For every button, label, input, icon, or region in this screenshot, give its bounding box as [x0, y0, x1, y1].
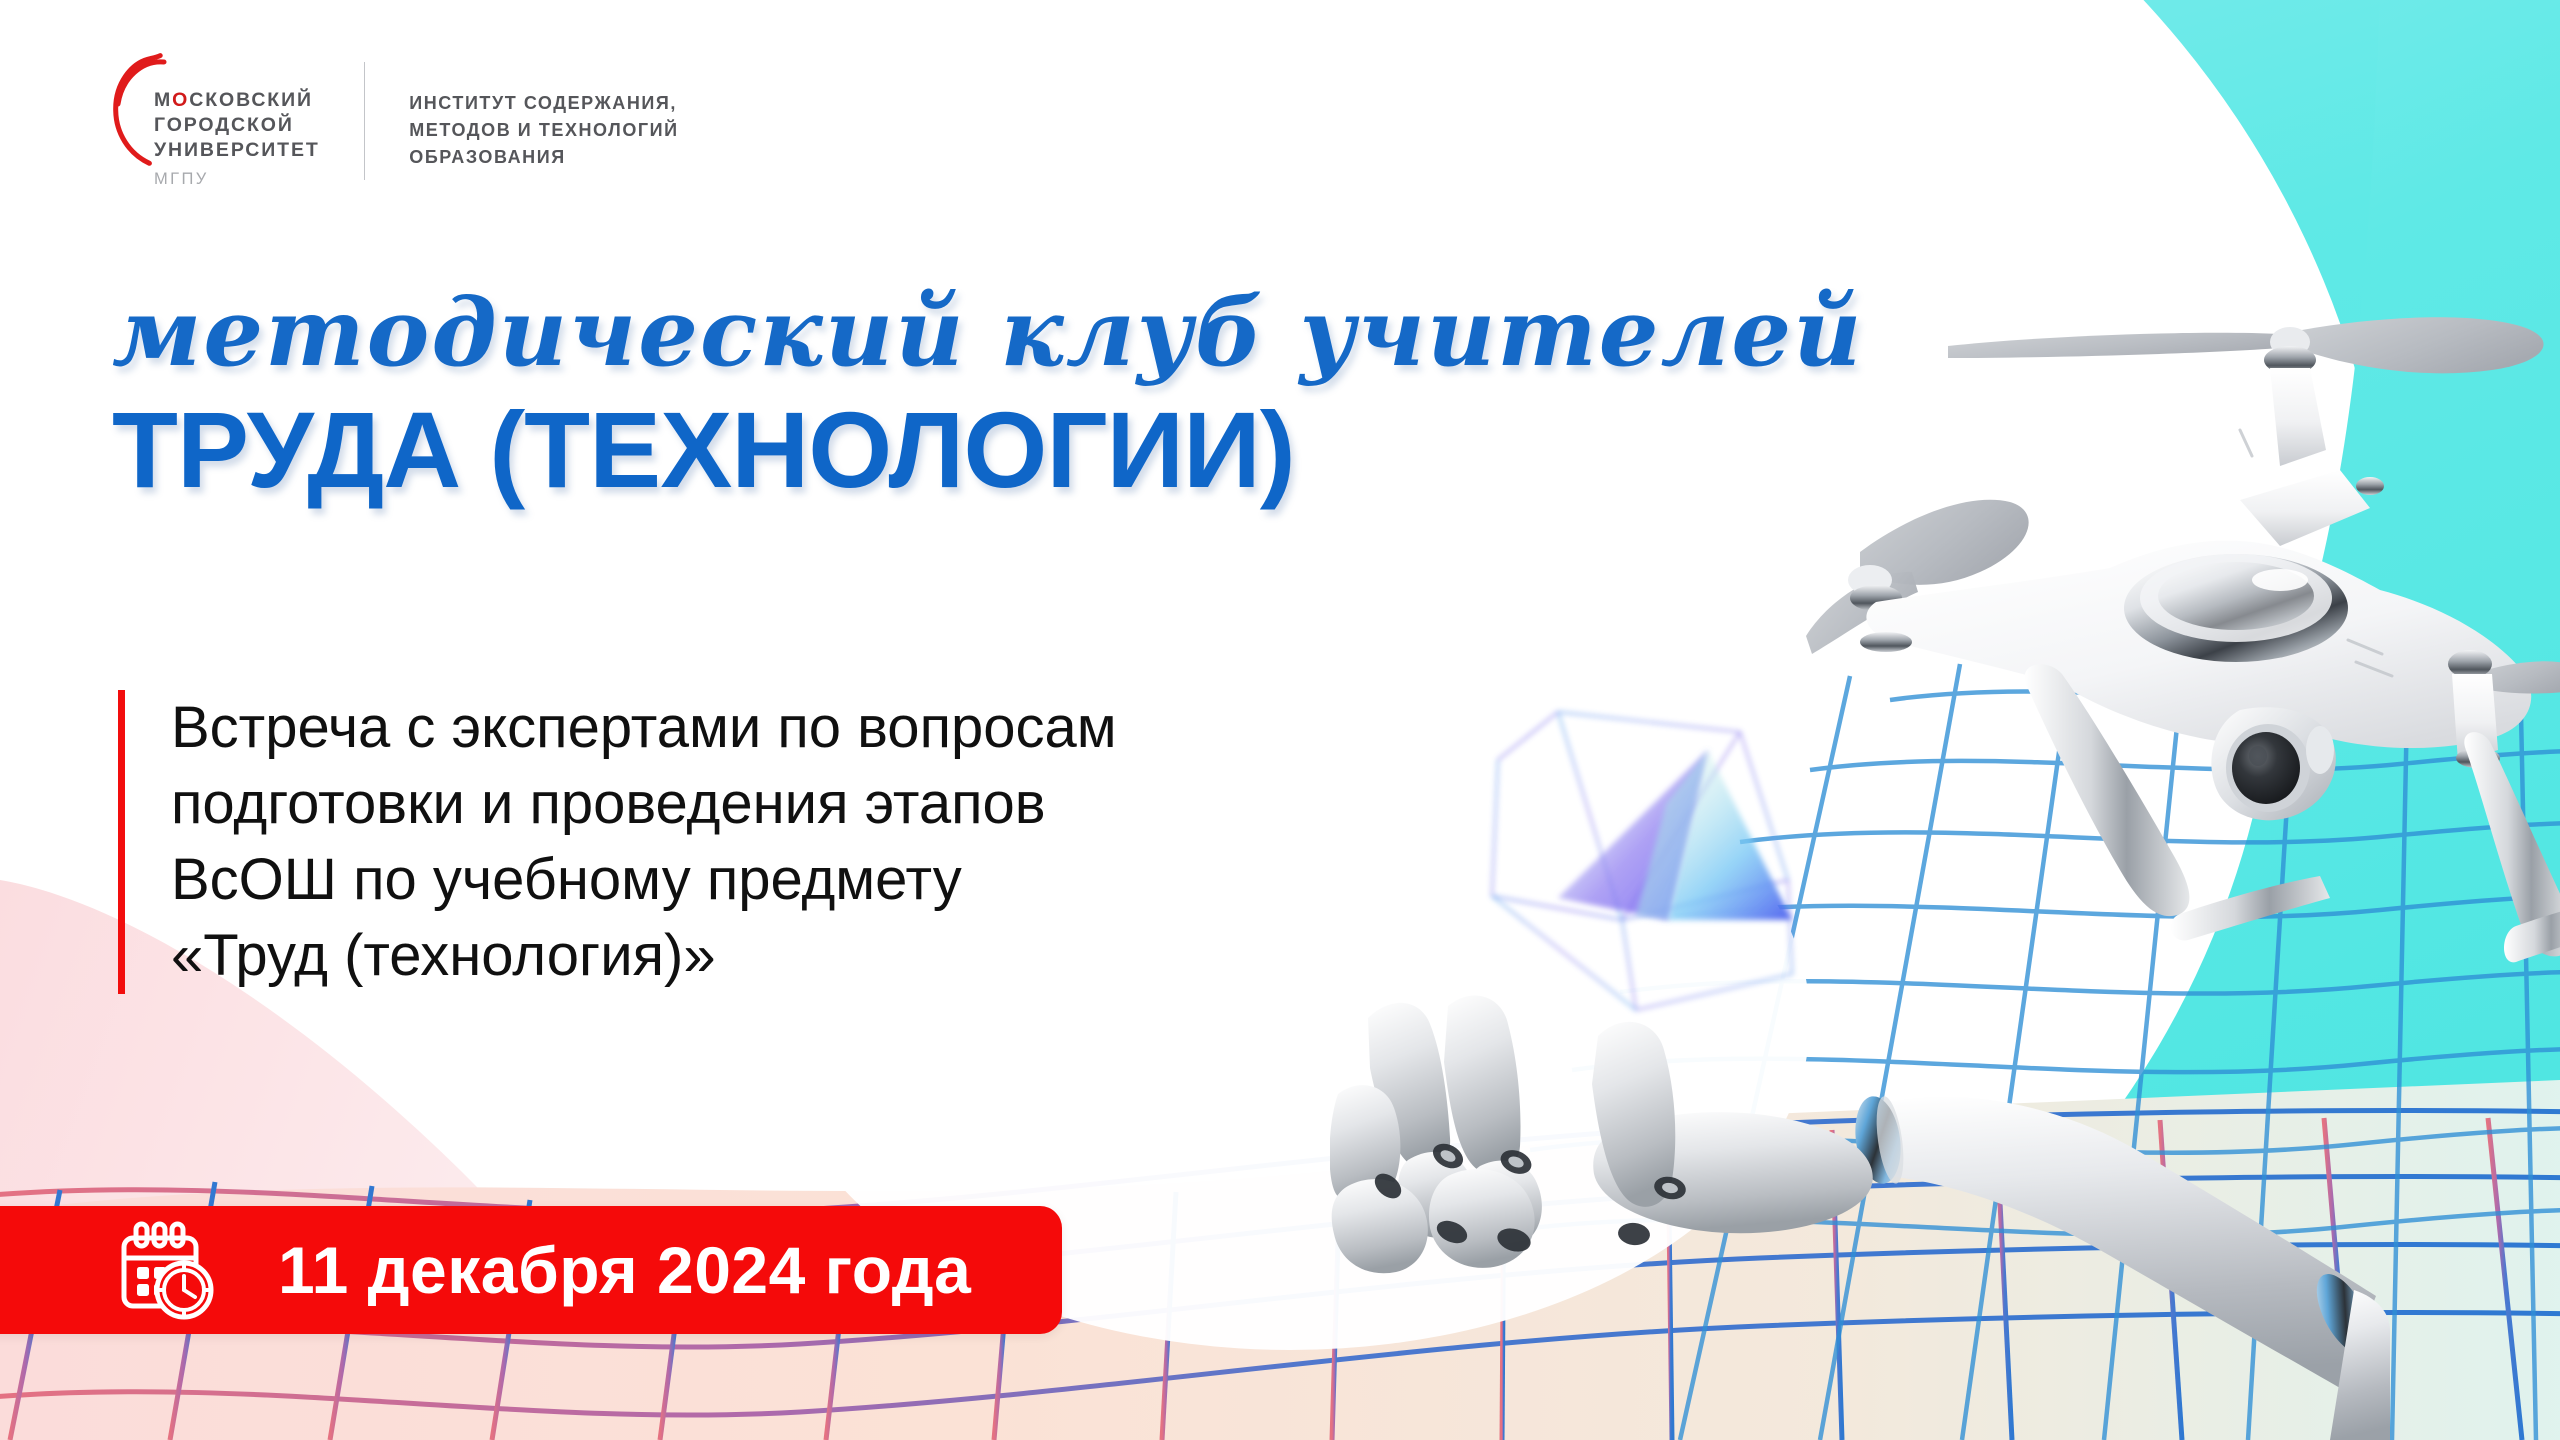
logo-line2: ГОРОДСКОЙ	[154, 113, 320, 138]
poster-canvas: МОСКОВСКИЙ ГОРОДСКОЙ УНИВЕРСИТЕТ МГПУ ИН…	[0, 0, 2560, 1440]
page-title: ТРУДА (ТЕХНОЛОГИИ)	[112, 396, 1864, 504]
description-line-3: ВсОШ по учебному предмету	[171, 842, 1117, 918]
calendar-clock-icon	[112, 1218, 216, 1322]
logo-line1-tail: СКОВСКИЙ	[189, 89, 313, 111]
description-line-4: «Труд (технология)»	[171, 918, 1117, 994]
robotic-hand-icon	[1330, 990, 2390, 1440]
logo-institute-line3: ОБРАЗОВАНИЯ	[409, 144, 678, 171]
mgpu-logo: МОСКОВСКИЙ ГОРОДСКОЙ УНИВЕРСИТЕТ МГПУ ИН…	[108, 88, 679, 189]
robot-fingers	[1330, 996, 1688, 1274]
headline-block: методический клуб учителей ТРУДА (ТЕХНОЛ…	[112, 286, 1864, 504]
description-accent-rule	[118, 690, 125, 994]
logo-institute-line1: ИНСТИТУТ СОДЕРЖАНИЯ,	[409, 90, 678, 117]
description-text: Встреча с экспертами по вопросам подгото…	[171, 690, 1117, 994]
logo-abbreviation: МГПУ	[154, 170, 320, 189]
description-block: Встреча с экспертами по вопросам подгото…	[118, 690, 1117, 994]
description-line-1: Встреча с экспертами по вопросам	[171, 690, 1117, 766]
logo-institute-block: ИНСТИТУТ СОДЕРЖАНИЯ, МЕТОДОВ И ТЕХНОЛОГИ…	[409, 88, 678, 171]
logo-university-block: МОСКОВСКИЙ ГОРОДСКОЙ УНИВЕРСИТЕТ МГПУ	[108, 88, 320, 189]
logo-divider	[364, 62, 366, 180]
logo-line1-accent: О	[172, 89, 189, 111]
date-banner: 11 декабря 2024 года	[0, 1206, 1062, 1334]
drone-camera	[2211, 707, 2335, 820]
description-line-2: подготовки и проведения этапов	[171, 766, 1117, 842]
logo-line3: УНИВЕРСИТЕТ	[154, 138, 320, 163]
event-date: 11 декабря 2024 года	[278, 1232, 971, 1308]
logo-university-lines: МОСКОВСКИЙ ГОРОДСКОЙ УНИВЕРСИТЕТ	[154, 88, 320, 163]
headline-script-line: методический клуб учителей	[112, 286, 1864, 380]
logo-arc-icon	[108, 52, 168, 170]
logo-institute-line2: МЕТОДОВ И ТЕХНОЛОГИЙ	[409, 117, 678, 144]
